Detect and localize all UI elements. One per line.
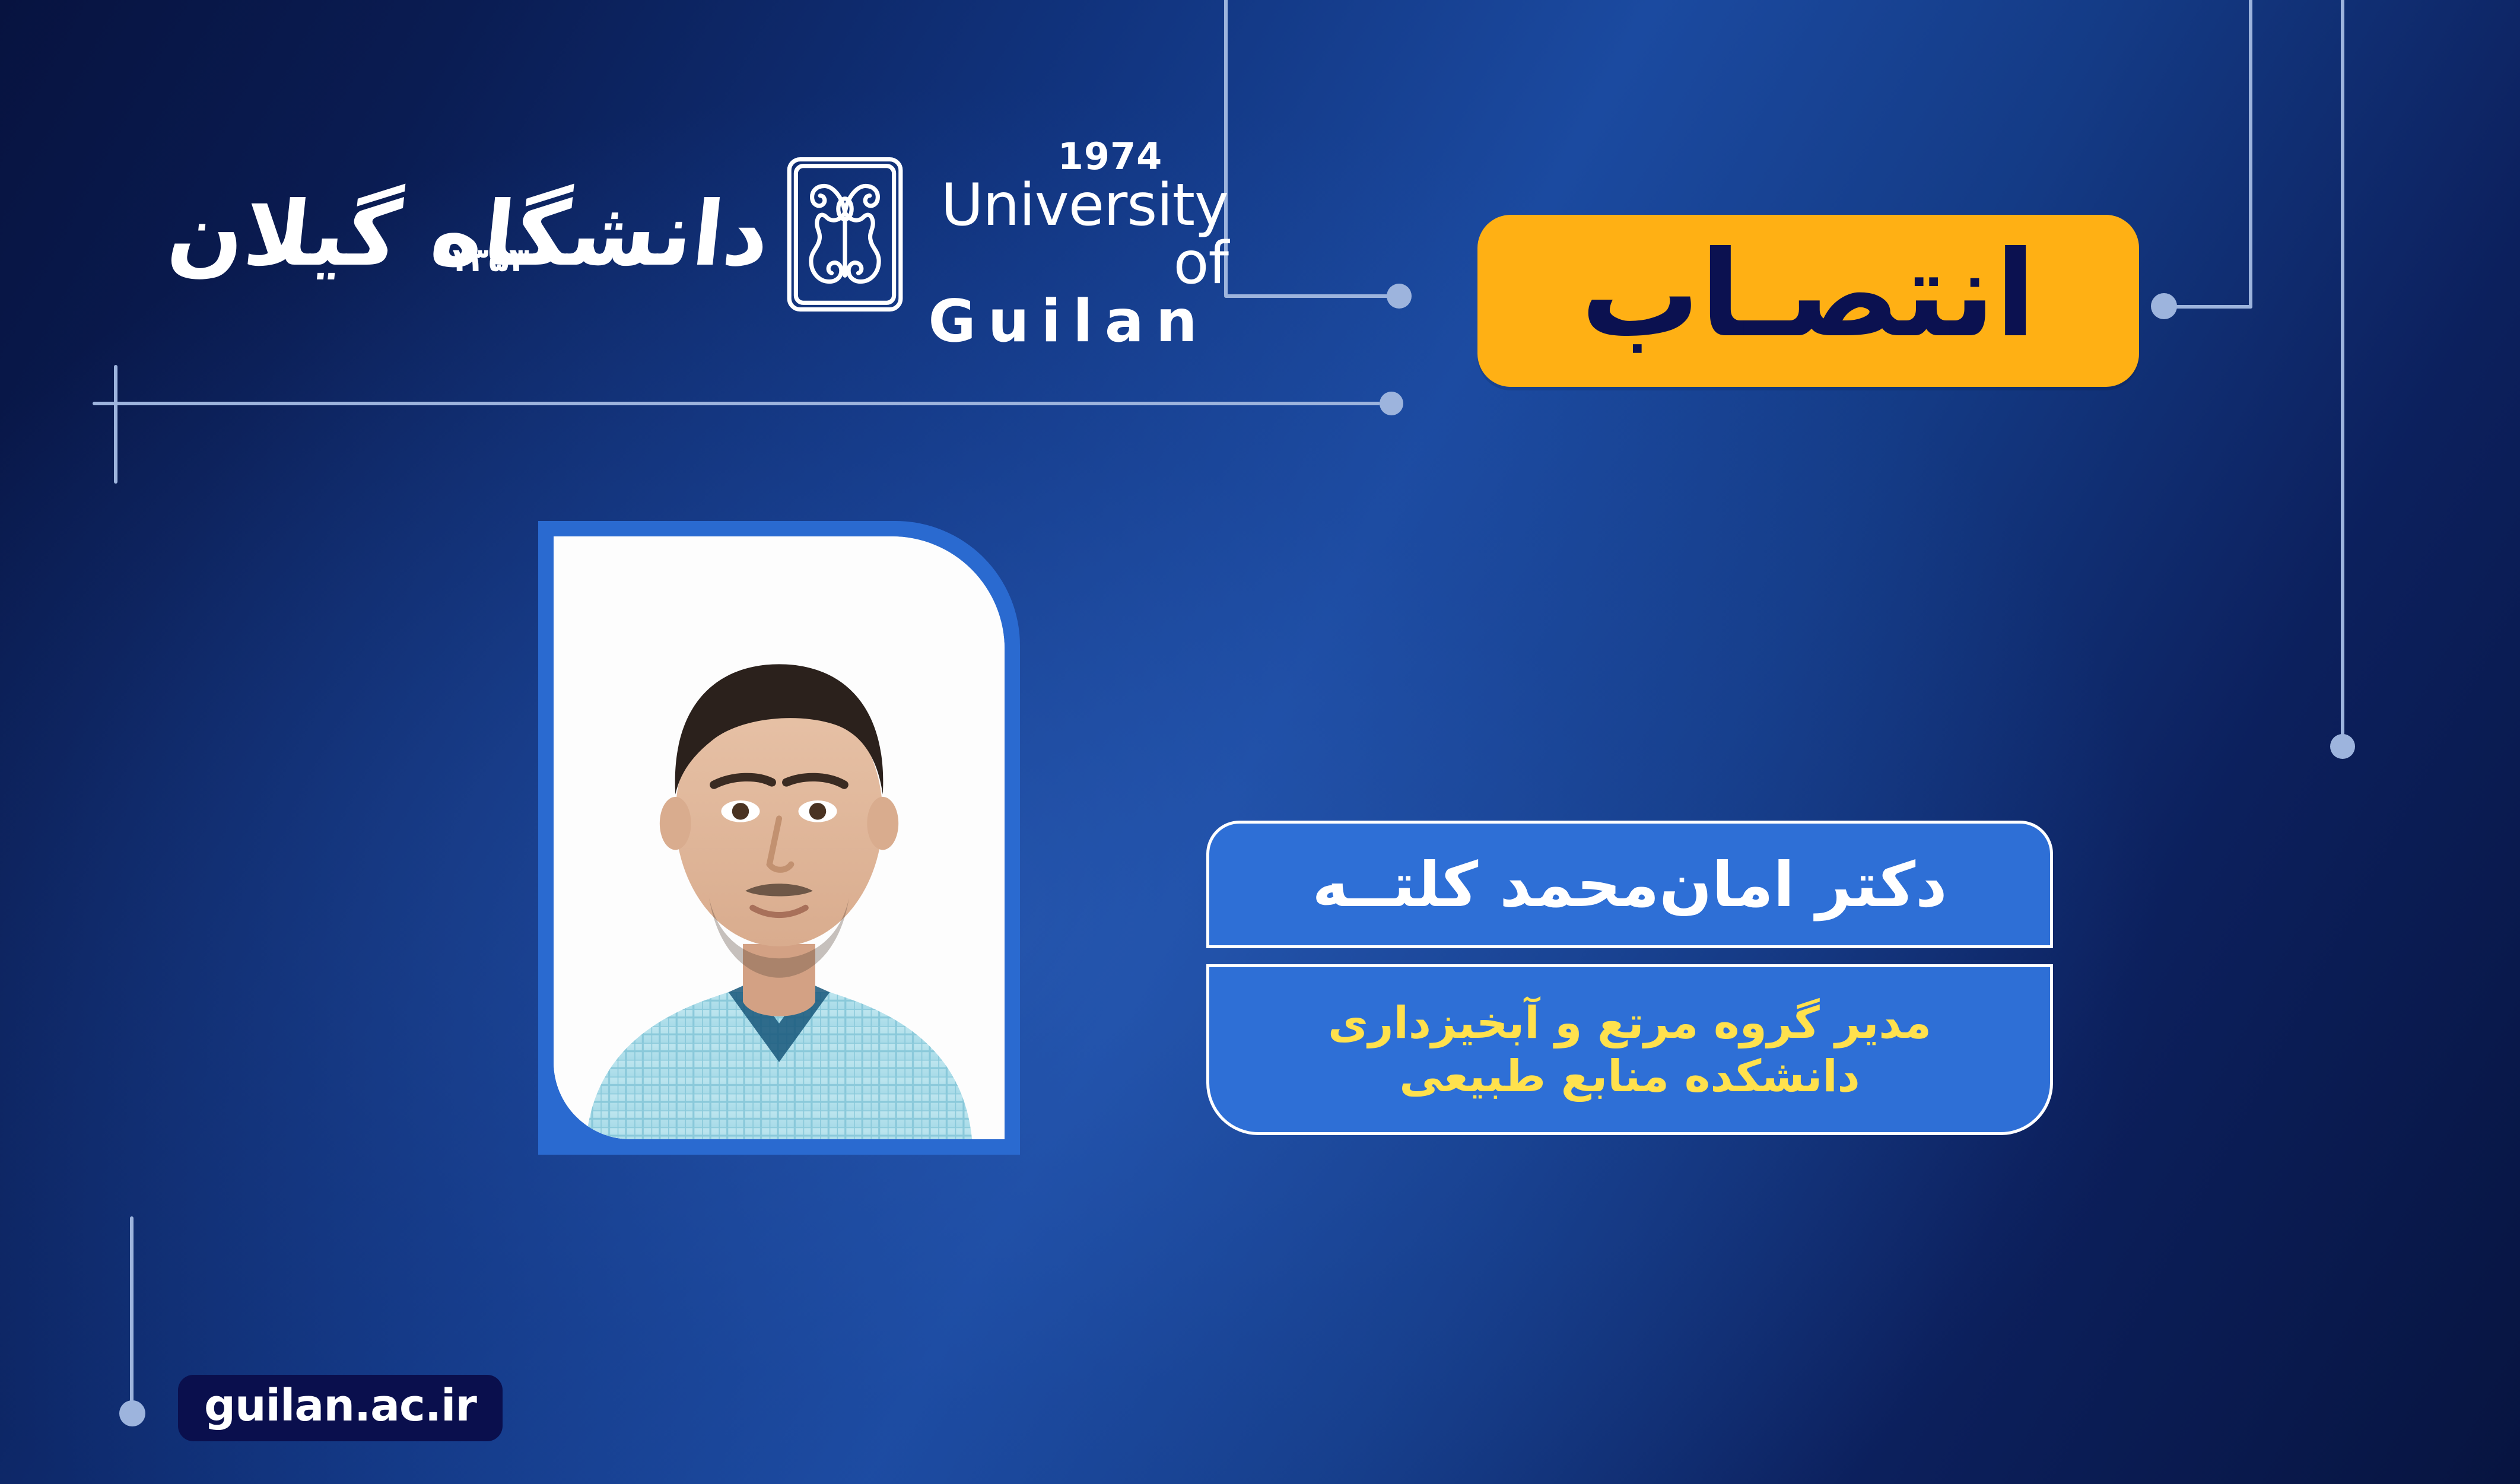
deco-dot-right-elbow-end (2151, 293, 2177, 319)
deco-rule-left-vertical-upper (114, 365, 117, 484)
appointment-badge-label: انتصـاب (1581, 239, 2036, 351)
poster-canvas: دانشگاه گیلان ۱۳۵۳ 1974 University of Gu… (0, 0, 2520, 1484)
guilan-butterfly-emblem-icon (784, 154, 905, 314)
person-title-badge: مدیر گروه مرتع و آبخیزداری دانشکده منابع… (1206, 964, 2053, 1135)
logo-english-year: 1974 (921, 138, 1299, 175)
deco-rule-bottom-left-vertical (130, 1216, 134, 1406)
university-logo: دانشگاه گیلان ۱۳۵۳ 1974 University of Gu… (160, 128, 1228, 341)
deco-dot-center-elbow-end (1387, 284, 1412, 309)
person-title-line2: دانشکده منابع طبیعی (1399, 1050, 1860, 1103)
deco-dot-bottom-left-end (119, 1400, 145, 1426)
deco-rule-right-vertical-elbow (2249, 0, 2252, 309)
website-url[interactable]: guilan.ac.ir (204, 1384, 476, 1428)
appointment-badge: انتصـاب (1477, 215, 2139, 387)
portrait-frame (538, 521, 1020, 1155)
person-name: دکتر امان‌محمد کلتــه (1313, 854, 1947, 916)
logo-english-line2: Guilan (921, 293, 1228, 351)
logo-persian-year: ۱۳۵۳ (448, 241, 529, 279)
deco-dot-far-right-end (2330, 734, 2355, 759)
deco-rule-center-horizontal (1224, 294, 1396, 298)
website-url-badge[interactable]: guilan.ac.ir (178, 1375, 503, 1441)
logo-english-line1: University of (921, 176, 1228, 293)
logo-persian-wordmark: دانشگاه گیلان ۱۳۵۳ (160, 190, 769, 279)
logo-english-wordmark: 1974 University of Guilan (921, 118, 1228, 351)
deco-rule-top-left-horizontal (93, 402, 1380, 405)
person-name-badge: دکتر امان‌محمد کلتــه (1206, 821, 2053, 948)
person-title-line1: مدیر گروه مرتع و آبخیزداری (1328, 996, 1931, 1050)
portrait-illustration-icon (554, 536, 1005, 1139)
portrait-photo (554, 536, 1005, 1139)
deco-dot-top-left-horizontal-end (1380, 392, 1403, 415)
deco-rule-far-right-vertical (2341, 0, 2344, 736)
